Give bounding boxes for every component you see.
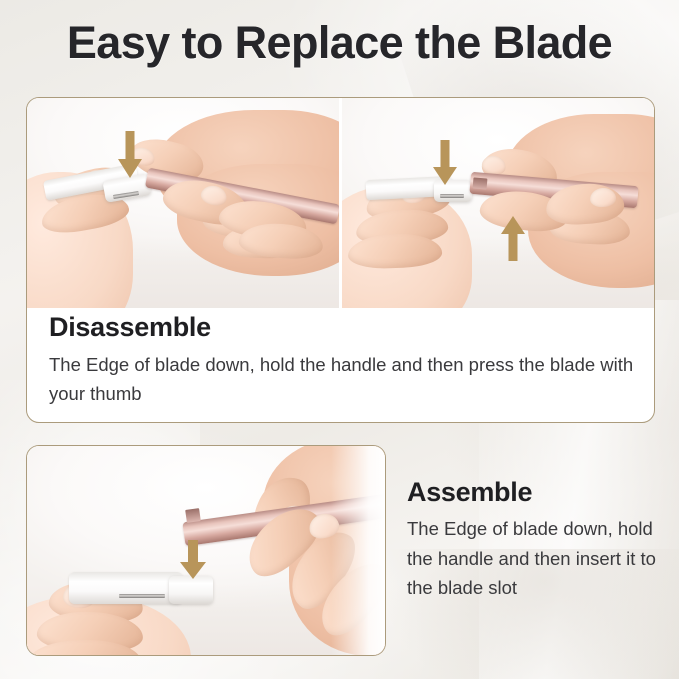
blade-edge (440, 194, 464, 198)
handle-slot (473, 177, 488, 189)
step-card-disassemble: Disassemble The Edge of blade down, hold… (26, 97, 655, 423)
disassemble-photo-left (27, 98, 339, 308)
disassemble-photo-right (342, 98, 654, 308)
infographic-page: Easy to Replace the Blade (0, 0, 679, 679)
assemble-text-block: Assemble The Edge of blade down, hold th… (407, 477, 657, 603)
blade-edge (119, 594, 165, 598)
blade-cover (69, 572, 183, 604)
arrow-up-icon (498, 216, 528, 262)
step-title-disassemble: Disassemble (49, 312, 635, 343)
step-card-assemble (26, 445, 386, 656)
step-body-disassemble: The Edge of blade down, hold the handle … (49, 350, 635, 408)
blade-cartridge (169, 576, 213, 604)
arrow-down-icon (115, 131, 145, 179)
step-body-assemble: The Edge of blade down, hold the handle … (407, 514, 657, 603)
arrow-down-icon (430, 140, 460, 186)
disassemble-photo-row (27, 98, 654, 308)
photo-edge-fade (331, 446, 385, 655)
step-title-assemble: Assemble (407, 477, 657, 508)
arrow-down-icon (177, 540, 209, 580)
handle-slot (185, 508, 201, 523)
page-title: Easy to Replace the Blade (0, 14, 679, 72)
disassemble-text-block: Disassemble The Edge of blade down, hold… (49, 312, 635, 408)
assemble-photo (27, 446, 385, 655)
